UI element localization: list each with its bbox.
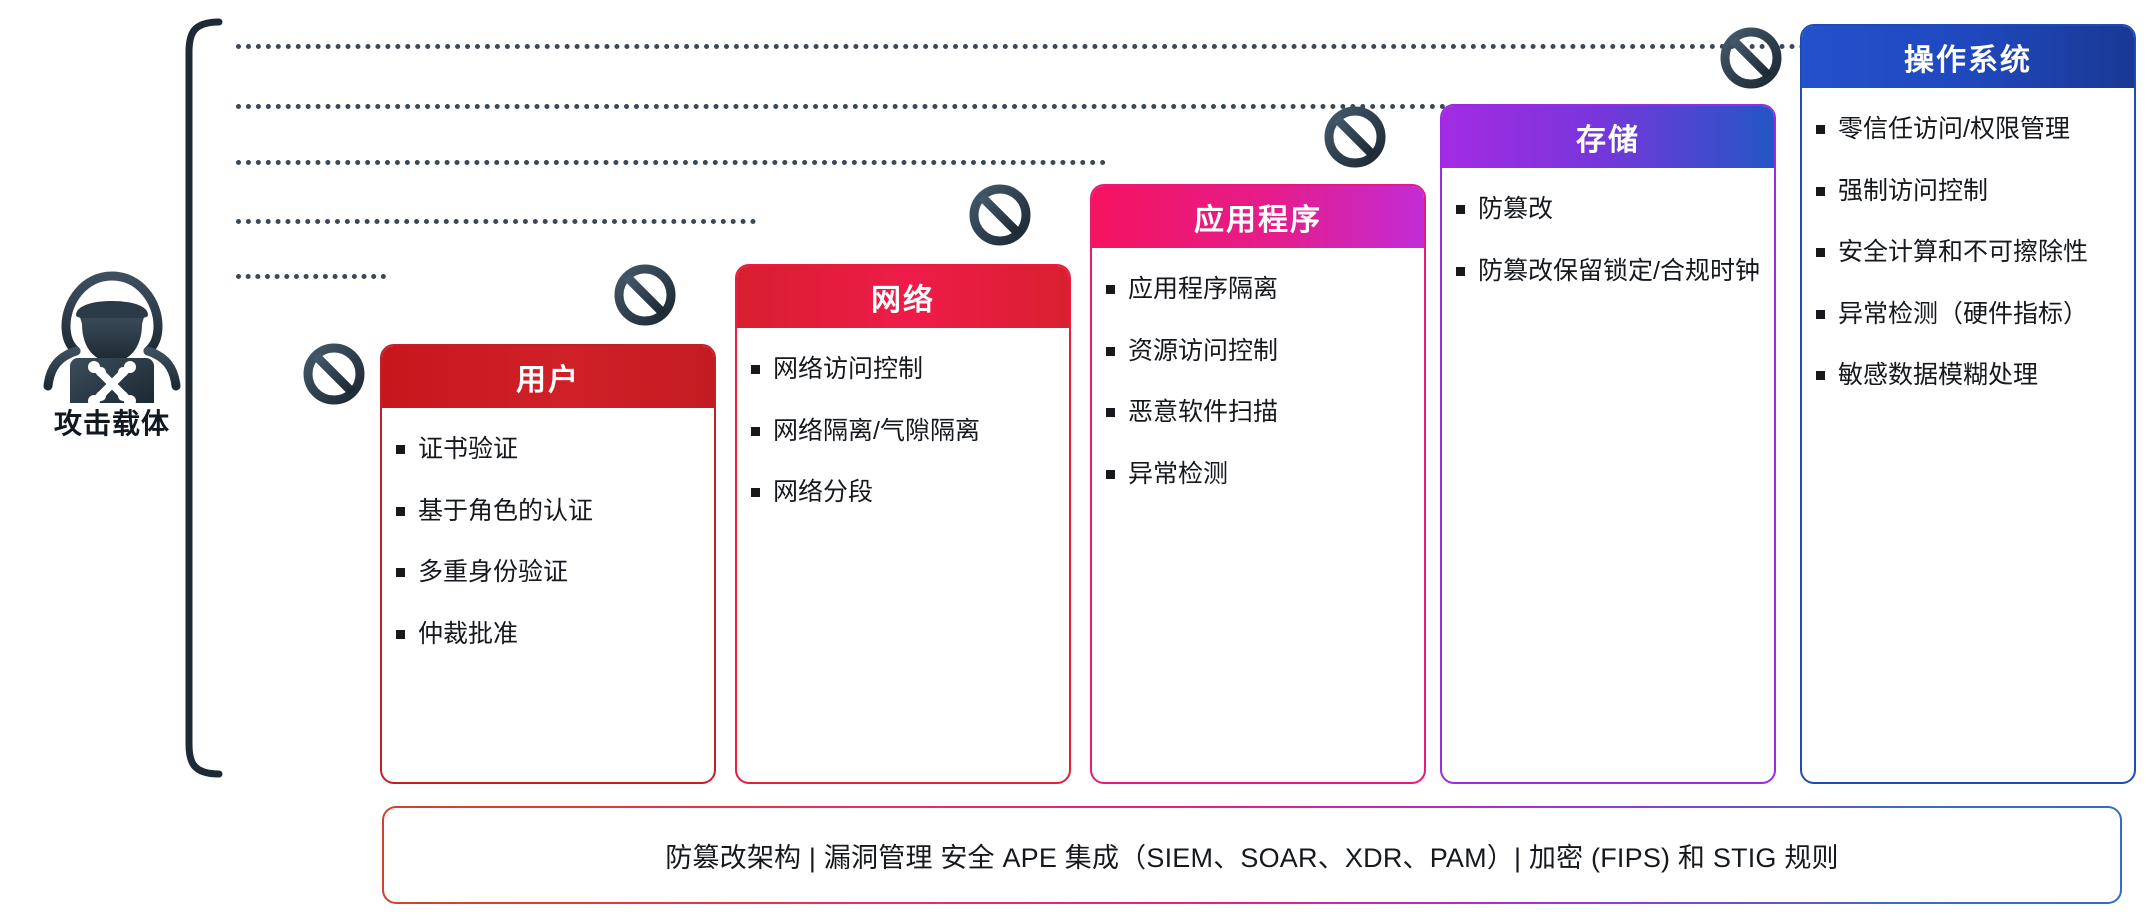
list-item: 异常检测（硬件指标） [1816,297,2120,333]
list-item: 防篡改保留锁定/合规时钟 [1456,254,1760,290]
bullet-square-icon [396,445,405,454]
list-item: 零信任访问/权限管理 [1816,112,2120,148]
bullet-square-icon [396,507,405,516]
foundation-bar-inner: 防篡改架构 | 漏洞管理 安全 APE 集成（SIEM、SOAR、XDR、PAM… [384,808,2120,902]
layer-title-user: 用户 [382,346,714,408]
bullet-square-icon [1456,267,1465,276]
list-item: 安全计算和不可擦除性 [1816,235,2120,271]
layer-items-storage: 防篡改 防篡改保留锁定/合规时钟 [1442,168,1774,325]
layer-items-network: 网络访问控制 网络隔离/气隙隔离 网络分段 [737,328,1069,547]
bullet-square-icon [1816,248,1825,257]
list-item: 基于角色的认证 [396,494,700,530]
prohibition-icon-application [968,183,1032,247]
layer-card-user[interactable]: 用户 证书验证 基于角色的认证 多重身份验证 仲裁批准 [380,344,716,784]
attack-surface-bracket [175,18,235,778]
layer-title-os: 操作系统 [1802,26,2134,88]
hacker-icon [32,268,192,403]
bullet-square-icon [751,365,760,374]
layer-title-application: 应用程序 [1092,186,1424,248]
bullet-square-icon [396,630,405,639]
layer-items-user: 证书验证 基于角色的认证 多重身份验证 仲裁批准 [382,408,714,688]
list-item: 证书验证 [396,432,700,468]
diagram-canvas: 攻击载体 用户 [0,0,2146,916]
attack-line-storage [236,104,1456,109]
list-item: 恶意软件扫描 [1106,395,1410,431]
bullet-square-icon [1106,470,1115,479]
list-item: 网络分段 [751,475,1055,511]
list-item: 多重身份验证 [396,555,700,591]
layer-card-storage[interactable]: 存储 防篡改 防篡改保留锁定/合规时钟 [1440,104,1776,784]
layer-title-network: 网络 [737,266,1069,328]
prohibition-icon-os [1719,26,1783,90]
prohibition-icon-user [302,342,366,406]
bullet-square-icon [751,427,760,436]
list-item: 防篡改 [1456,192,1760,228]
bullet-square-icon [1816,310,1825,319]
list-item: 资源访问控制 [1106,334,1410,370]
bullet-square-icon [1106,347,1115,356]
bullet-square-icon [1816,187,1825,196]
prohibition-icon-network [613,263,677,327]
bullet-square-icon [1816,371,1825,380]
attack-line-application [236,160,1106,165]
bullet-square-icon [1106,408,1115,417]
bullet-square-icon [1106,285,1115,294]
bullet-square-icon [751,488,760,497]
layer-card-os[interactable]: 操作系统 零信任访问/权限管理 强制访问控制 安全计算和不可擦除性 异常检测（硬… [1800,24,2136,784]
list-item: 仲裁批准 [396,617,700,653]
list-item: 异常检测 [1106,457,1410,493]
attack-line-os [236,44,1816,49]
list-item: 应用程序隔离 [1106,272,1410,308]
layer-title-storage: 存储 [1442,106,1774,168]
attack-line-user [236,274,386,279]
bullet-square-icon [396,568,405,577]
foundation-bar: 防篡改架构 | 漏洞管理 安全 APE 集成（SIEM、SOAR、XDR、PAM… [382,806,2122,904]
list-item: 网络访问控制 [751,352,1055,388]
bullet-square-icon [1456,205,1465,214]
prohibition-icon-storage [1323,105,1387,169]
layer-items-application: 应用程序隔离 资源访问控制 恶意软件扫描 异常检测 [1092,248,1424,528]
bullet-square-icon [1816,125,1825,134]
layer-card-network[interactable]: 网络 网络访问控制 网络隔离/气隙隔离 网络分段 [735,264,1071,784]
attack-line-network [236,219,756,224]
layer-items-os: 零信任访问/权限管理 强制访问控制 安全计算和不可擦除性 异常检测（硬件指标） … [1802,88,2134,430]
list-item: 强制访问控制 [1816,174,2120,210]
list-item: 网络隔离/气隙隔离 [751,414,1055,450]
list-item: 敏感数据模糊处理 [1816,358,2120,394]
layer-card-application[interactable]: 应用程序 应用程序隔离 资源访问控制 恶意软件扫描 异常检测 [1090,184,1426,784]
foundation-text: 防篡改架构 | 漏洞管理 安全 APE 集成（SIEM、SOAR、XDR、PAM… [665,836,1839,875]
